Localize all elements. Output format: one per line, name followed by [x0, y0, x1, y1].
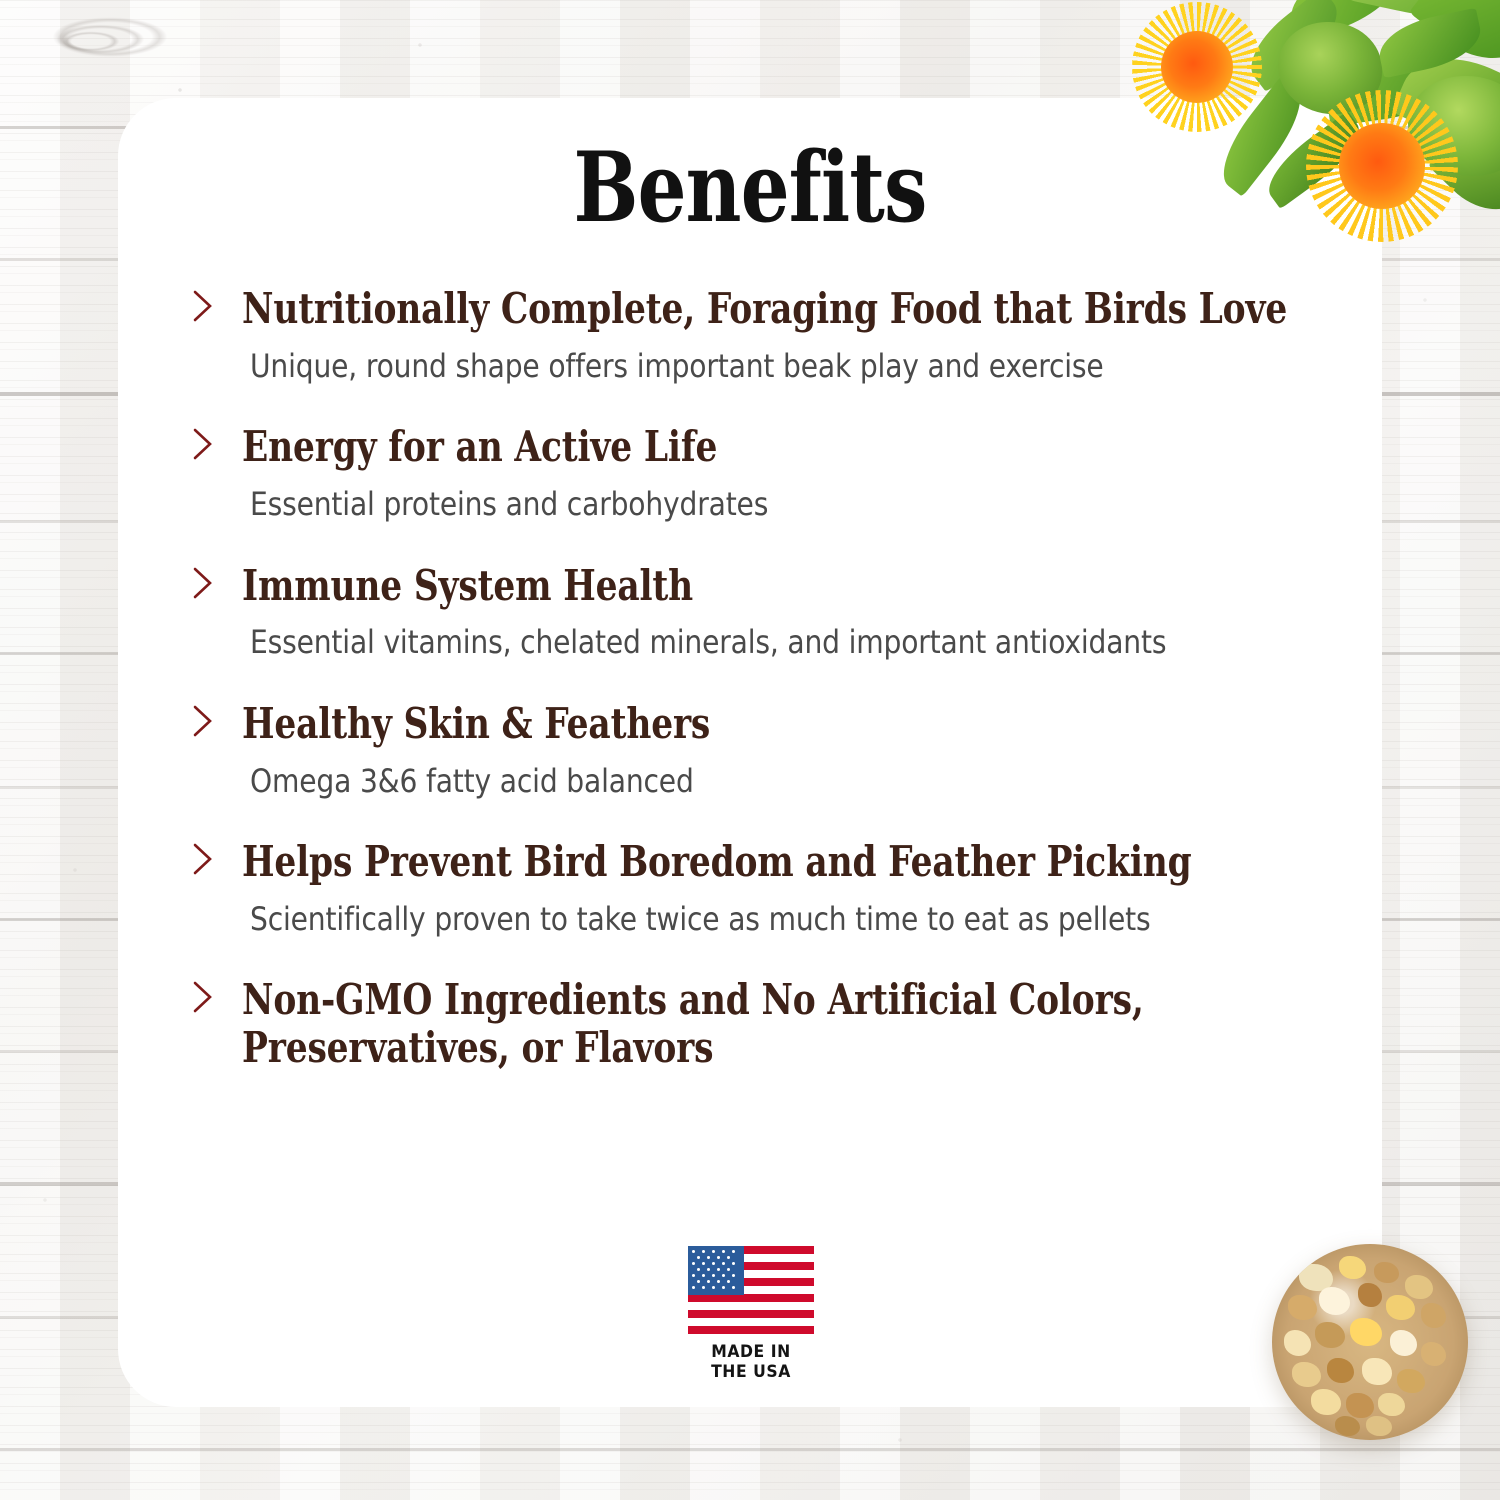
- list-item-text: Energy for an Active Life Essential prot…: [190, 423, 1320, 523]
- usa-flag-icon: [688, 1246, 814, 1334]
- benefit-subtext: Unique, round shape offers important bea…: [250, 347, 1322, 385]
- safflower-photo: [1090, 0, 1500, 294]
- benefit-heading: Helps Prevent Bird Boredom and Feather P…: [242, 838, 1320, 886]
- benefit-heading: Immune System Health: [242, 562, 1320, 610]
- list-item-text: Nutritionally Complete, Foraging Food th…: [190, 285, 1320, 385]
- benefit-subtext: Scientifically proven to take twice as m…: [250, 900, 1322, 938]
- safflower-bloom: [1306, 90, 1458, 242]
- chevron-right-icon: [190, 842, 216, 876]
- chevron-right-icon: [190, 566, 216, 600]
- list-item: Energy for an Active Life Essential prot…: [190, 423, 1320, 523]
- list-item: Non-GMO Ingredients and No Artificial Co…: [190, 976, 1320, 1072]
- list-item: Immune System Health Essential vitamins,…: [190, 562, 1320, 662]
- chevron-right-icon: [190, 980, 216, 1014]
- chevron-right-icon: [190, 427, 216, 461]
- chevron-right-icon: [190, 704, 216, 738]
- list-item-text: Immune System Health Essential vitamins,…: [190, 562, 1320, 662]
- made-in-usa-badge: MADE IN THE USA: [688, 1246, 814, 1382]
- list-item-text: Non-GMO Ingredients and No Artificial Co…: [190, 976, 1320, 1072]
- benefits-list: Nutritionally Complete, Foraging Food th…: [190, 285, 1320, 1072]
- list-item: Healthy Skin & Feathers Omega 3&6 fatty …: [190, 700, 1320, 800]
- benefit-heading: Healthy Skin & Feathers: [242, 700, 1320, 748]
- flag-canton: [688, 1246, 744, 1295]
- list-item-text: Healthy Skin & Feathers Omega 3&6 fatty …: [190, 700, 1320, 800]
- benefit-heading: Non-GMO Ingredients and No Artificial Co…: [242, 976, 1320, 1072]
- benefit-subtext: Essential proteins and carbohydrates: [250, 485, 1322, 523]
- chevron-right-icon: [190, 289, 216, 323]
- list-item: Helps Prevent Bird Boredom and Feather P…: [190, 838, 1320, 938]
- list-item: Nutritionally Complete, Foraging Food th…: [190, 285, 1320, 385]
- infographic-canvas: Benefits Nutritionally Complete, Foragin…: [0, 0, 1500, 1500]
- wood-knot-detail: [0, 0, 230, 92]
- list-item-text: Helps Prevent Bird Boredom and Feather P…: [190, 838, 1320, 938]
- benefit-heading: Energy for an Active Life: [242, 423, 1320, 471]
- safflower-bloom: [1132, 2, 1262, 132]
- made-in-usa-label: MADE IN THE USA: [693, 1342, 809, 1382]
- benefit-subtext: Omega 3&6 fatty acid balanced: [250, 762, 1322, 800]
- bird-food-ball-photo: [1272, 1244, 1468, 1440]
- benefit-subtext: Essential vitamins, chelated minerals, a…: [250, 623, 1322, 661]
